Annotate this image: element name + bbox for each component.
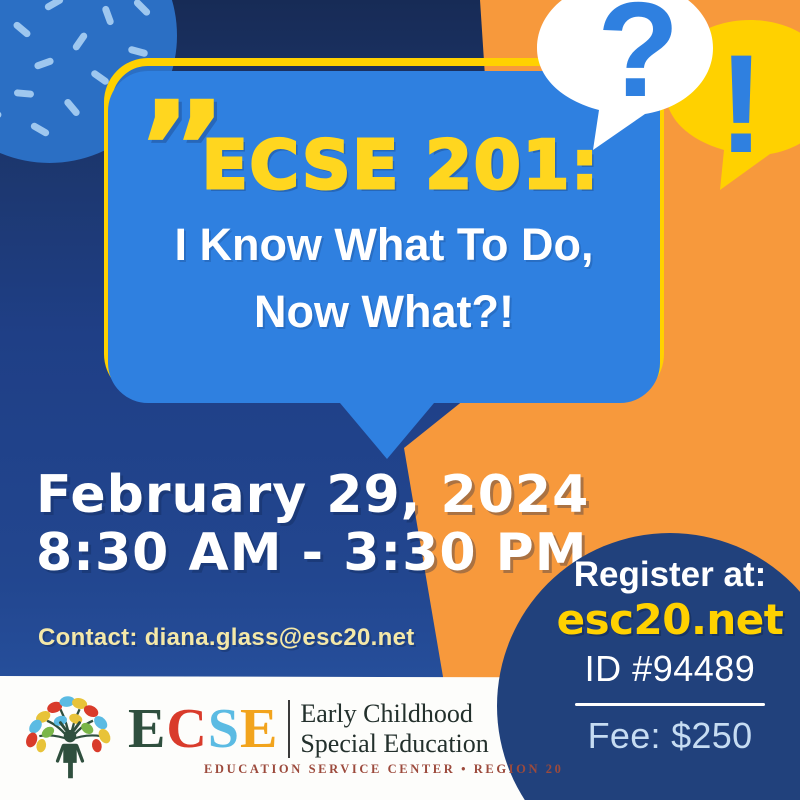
- event-date: February 29, 2024: [36, 466, 589, 524]
- logo-divider: [288, 700, 290, 758]
- sprinkle-dash: [30, 121, 51, 137]
- logo-subtitle-line-1: Early Childhood: [300, 699, 488, 728]
- registration-id: ID #94489: [585, 648, 756, 689]
- sprinkle-dash: [101, 5, 114, 26]
- sprinkle-dash: [0, 110, 3, 125]
- logo-subtitle-line-2: Special Education: [300, 729, 488, 758]
- quotation-mark-icon: ”: [135, 84, 222, 216]
- logo-letter-e1: E: [128, 698, 166, 760]
- event-flyer: ? ! ” ECSE 201: I Know What To Do, Now W…: [0, 0, 800, 800]
- subtitle-line-1: I Know What To Do,: [174, 219, 593, 272]
- sprinkle-dash: [63, 98, 81, 118]
- ecse-wordmark: ECSE: [128, 701, 278, 757]
- sprinkle-dash: [0, 0, 1, 2]
- registration-fee: Fee: $250: [588, 716, 753, 756]
- sprinkle-dash: [12, 20, 32, 38]
- sprinkle-dash: [71, 31, 88, 51]
- ecse-logo: ECSE Early Childhood Special Education E…: [22, 692, 564, 784]
- sprinkle-dash: [14, 89, 35, 98]
- logo-tagline: EDUCATION SERVICE CENTER • REGION 20: [204, 762, 564, 777]
- logo-letter-s: S: [208, 698, 240, 760]
- schedule-block: February 29, 2024 8:30 AM - 3:30 PM: [36, 466, 589, 582]
- logo-letter-e2: E: [240, 698, 278, 760]
- sprinkle-dash: [33, 57, 54, 70]
- logo-subtitle: Early Childhood Special Education: [300, 699, 488, 757]
- logo-text-block: ECSE Early Childhood Special Education E…: [128, 699, 564, 776]
- divider-rule: [575, 703, 765, 706]
- sprinkle-dash: [44, 0, 65, 12]
- register-url[interactable]: esc20.net: [557, 596, 784, 644]
- register-label: Register at:: [574, 557, 767, 594]
- logo-letter-c: C: [166, 698, 207, 760]
- subtitle-line-2: Now What?!: [254, 286, 514, 339]
- sprinkle-dash: [132, 0, 151, 17]
- event-time: 8:30 AM - 3:30 PM: [36, 524, 589, 582]
- exclamation-mark-glyph: !: [718, 34, 765, 174]
- question-speech-bubble-icon: ?: [535, 0, 715, 138]
- tree-logo-icon: [22, 692, 118, 784]
- question-mark-glyph: ?: [597, 0, 679, 117]
- contact-email[interactable]: Contact: diana.glass@esc20.net: [38, 624, 415, 652]
- logo-main-row: ECSE Early Childhood Special Education: [128, 699, 564, 757]
